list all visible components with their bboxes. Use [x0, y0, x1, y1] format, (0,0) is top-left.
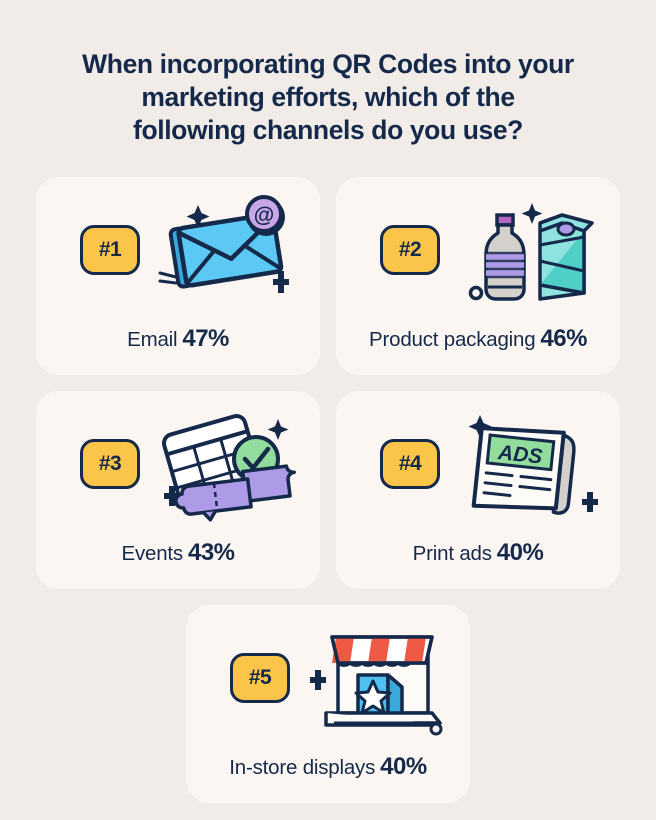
- envelope-at-icon: @: [154, 193, 304, 313]
- card-caption: Product packaging46%: [336, 325, 620, 353]
- channel-card-product-packaging[interactable]: #2: [336, 177, 620, 375]
- ads-banner-text: ADS: [496, 441, 543, 469]
- card-illustration-area: #5: [186, 605, 470, 745]
- calendar-tickets-icon: [154, 407, 304, 527]
- rank-badge: #3: [80, 439, 140, 489]
- channel-card-events[interactable]: #3: [36, 391, 320, 589]
- rank-badge: #1: [80, 225, 140, 275]
- title-line-2: marketing efforts, which of the: [60, 81, 596, 114]
- card-row-2: #3: [36, 391, 620, 589]
- channel-percent: 40%: [380, 753, 427, 780]
- at-symbol-glyph: @: [254, 204, 274, 227]
- storefront-icon: [304, 621, 454, 741]
- channel-label: Product packaging: [369, 328, 535, 351]
- rank-badge: #5: [230, 653, 290, 703]
- card-illustration-area: #3: [36, 391, 320, 531]
- card-caption: In-store displays40%: [186, 753, 470, 781]
- card-illustration-area: #2: [336, 177, 620, 317]
- channel-card-print-ads[interactable]: #4 ADS: [336, 391, 620, 589]
- card-caption: Print ads40%: [336, 539, 620, 567]
- channel-card-grid: #1: [36, 177, 620, 819]
- title-line-3: following channels do you use?: [60, 114, 596, 147]
- infographic-page: When incorporating QR Codes into your ma…: [0, 0, 656, 820]
- channel-card-email[interactable]: #1: [36, 177, 320, 375]
- channel-percent: 47%: [182, 325, 229, 352]
- bottle-carton-icon: [454, 193, 604, 313]
- rank-badge: #4: [380, 439, 440, 489]
- channel-label: Email: [127, 328, 177, 351]
- channel-percent: 40%: [497, 539, 544, 566]
- channel-label: Events: [121, 542, 182, 565]
- card-illustration-area: #1: [36, 177, 320, 317]
- card-row-1: #1: [36, 177, 620, 375]
- card-caption: Email47%: [36, 325, 320, 353]
- channel-card-in-store-displays[interactable]: #5: [186, 605, 470, 803]
- channel-percent: 46%: [540, 325, 587, 352]
- card-caption: Events43%: [36, 539, 320, 567]
- channel-percent: 43%: [188, 539, 235, 566]
- channel-label: Print ads: [413, 542, 492, 565]
- channel-label: In-store displays: [229, 756, 375, 779]
- card-row-3: #5: [36, 605, 620, 803]
- card-illustration-area: #4 ADS: [336, 391, 620, 531]
- rank-badge: #2: [380, 225, 440, 275]
- title-line-1: When incorporating QR Codes into your: [60, 48, 596, 81]
- newspaper-ads-icon: ADS: [454, 407, 604, 527]
- page-title: When incorporating QR Codes into your ma…: [0, 48, 656, 147]
